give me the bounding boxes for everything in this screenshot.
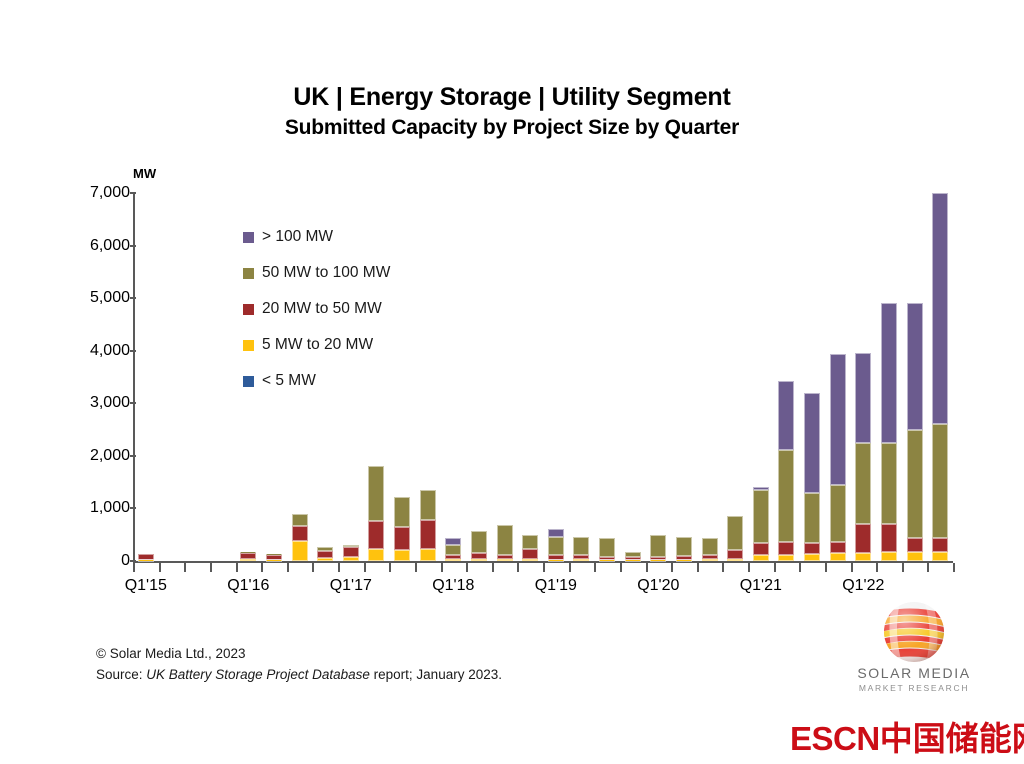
bar-Q2'21 (778, 381, 794, 561)
bar-segment (676, 537, 692, 556)
x-tick-mark (338, 563, 340, 572)
bar-segment (804, 554, 820, 561)
y-tick-label: 6,000 (68, 237, 130, 255)
logo-name: SOLAR MEDIA (849, 665, 979, 681)
footer-block: © Solar Media Ltd., 2023 Source: UK Batt… (96, 643, 502, 685)
x-tick-mark (210, 563, 212, 572)
bar-segment (907, 538, 923, 552)
x-axis-label: Q1'20 (623, 577, 693, 595)
bar-segment (548, 560, 564, 561)
bar-Q3'22 (907, 303, 923, 561)
x-axis-label: Q1'22 (828, 577, 898, 595)
y-tick-label: 0 (68, 552, 130, 570)
x-tick-mark (671, 563, 673, 572)
bar-segment (778, 555, 794, 561)
y-tick-label: 3,000 (68, 394, 130, 412)
bar-Q2'17 (368, 466, 384, 561)
bar-Q1'15 (138, 554, 154, 561)
bar-Q1'19 (548, 529, 564, 561)
y-tick-label: 4,000 (68, 342, 130, 360)
legend-item[interactable]: 20 MW to 50 MW (243, 291, 473, 327)
bar-segment (625, 560, 641, 561)
bar-Q1'17 (343, 545, 359, 561)
bar-segment (753, 490, 769, 543)
watermark-latin: ESCN (790, 720, 880, 757)
bar-segment (778, 381, 794, 450)
x-axis-label: Q1'17 (316, 577, 386, 595)
y-tick-label: 5,000 (68, 289, 130, 307)
bar-segment (343, 557, 359, 561)
bar-segment (471, 559, 487, 561)
x-axis-label: Q1'15 (111, 577, 181, 595)
bar-Q4'22 (932, 193, 948, 561)
bar-segment (702, 538, 718, 555)
x-tick-mark (133, 563, 135, 572)
bar-segment (753, 543, 769, 556)
bar-Q4'16 (317, 547, 333, 561)
bar-segment (420, 490, 436, 520)
legend-swatch-icon (243, 304, 254, 315)
x-tick-mark (927, 563, 929, 572)
bar-segment (420, 549, 436, 561)
bar-segment (932, 193, 948, 424)
bar-Q2'19 (573, 537, 589, 561)
legend-item[interactable]: < 5 MW (243, 363, 473, 399)
bar-segment (702, 559, 718, 561)
x-tick-mark (543, 563, 545, 572)
y-axis-tick-labels: 01,0002,0003,0004,0005,0006,0007,000 (60, 193, 130, 561)
x-tick-mark (184, 563, 186, 572)
source-suffix: report; January 2023. (370, 667, 502, 682)
x-tick-mark (466, 563, 468, 572)
x-tick-mark (569, 563, 571, 572)
bar-segment (881, 552, 897, 561)
bar-segment (368, 466, 384, 521)
bar-Q2'20 (676, 537, 692, 561)
x-tick-mark (620, 563, 622, 572)
watermark-chinese: 中国储能网 (880, 720, 1024, 757)
bar-Q4'17 (420, 490, 436, 561)
bar-segment (881, 524, 897, 552)
bar-segment (727, 550, 743, 559)
legend-label: 50 MW to 100 MW (262, 264, 390, 282)
bar-segment (368, 549, 384, 561)
x-tick-mark (902, 563, 904, 572)
bar-Q1'18 (445, 538, 461, 561)
x-tick-mark (364, 563, 366, 572)
bar-segment (240, 553, 256, 560)
y-axis-line (133, 193, 135, 561)
x-tick-mark (697, 563, 699, 572)
bar-segment (855, 524, 871, 552)
bar-Q3'17 (394, 497, 410, 561)
bar-Q3'18 (497, 525, 513, 561)
x-tick-mark (953, 563, 955, 572)
bar-segment (522, 559, 538, 561)
bar-Q3'19 (599, 538, 615, 561)
x-axis-label: Q1'21 (726, 577, 796, 595)
bar-segment (317, 551, 333, 558)
bar-segment (932, 424, 948, 538)
legend-label: > 100 MW (262, 228, 333, 246)
legend-label: 20 MW to 50 MW (262, 300, 382, 318)
x-tick-mark (646, 563, 648, 572)
bar-segment (497, 559, 513, 561)
x-tick-mark (261, 563, 263, 572)
bar-segment (907, 303, 923, 430)
bar-segment (292, 541, 308, 562)
bar-segment (907, 552, 923, 561)
bar-segment (830, 542, 846, 554)
bar-Q1'22 (855, 353, 871, 561)
bar-Q4'18 (522, 535, 538, 561)
bar-Q3'20 (702, 538, 718, 561)
x-tick-mark (492, 563, 494, 572)
bar-Q3'21 (804, 393, 820, 561)
bar-segment (778, 450, 794, 542)
bar-segment (394, 497, 410, 527)
legend-label: 5 MW to 20 MW (262, 336, 373, 354)
legend-swatch-icon (243, 268, 254, 279)
bar-segment (907, 430, 923, 538)
x-tick-mark (389, 563, 391, 572)
bar-segment (855, 443, 871, 524)
legend-swatch-icon (243, 232, 254, 243)
bar-segment (599, 538, 615, 557)
bar-segment (343, 547, 359, 557)
y-tick-label: 1,000 (68, 499, 130, 517)
bar-Q3'16 (292, 514, 308, 561)
legend-label: < 5 MW (262, 372, 316, 390)
bar-segment (855, 553, 871, 561)
legend-swatch-icon (243, 376, 254, 387)
x-axis-label: Q1'16 (213, 577, 283, 595)
bar-segment (394, 550, 410, 561)
chart-page: UK | Energy Storage | Utility Segment Su… (0, 0, 1024, 764)
bar-segment (830, 354, 846, 484)
x-tick-mark (799, 563, 801, 572)
bar-segment (138, 560, 154, 561)
bar-Q4'20 (727, 516, 743, 561)
bar-Q1'20 (650, 535, 666, 561)
x-tick-mark (774, 563, 776, 572)
x-tick-mark (825, 563, 827, 572)
bar-segment (292, 526, 308, 540)
bar-segment (932, 538, 948, 552)
bar-segment (497, 525, 513, 554)
bar-segment (778, 542, 794, 555)
x-tick-mark (594, 563, 596, 572)
bar-Q4'19 (625, 552, 641, 561)
bar-Q4'21 (830, 354, 846, 561)
bar-segment (445, 538, 461, 545)
x-tick-mark (441, 563, 443, 572)
globe-icon (882, 600, 946, 664)
logo-subtitle: MARKET RESEARCH (849, 683, 979, 693)
source-title: UK Battery Storage Project Database (146, 667, 370, 682)
bar-segment (881, 443, 897, 524)
x-tick-mark (236, 563, 238, 572)
bar-segment (548, 537, 564, 554)
x-tick-mark (517, 563, 519, 572)
y-axis-unit-label: MW (133, 166, 156, 181)
copyright-line: © Solar Media Ltd., 2023 (96, 643, 502, 664)
bar-segment (753, 555, 769, 561)
bar-segment (292, 514, 308, 527)
x-tick-mark (287, 563, 289, 572)
bar-segment (317, 558, 333, 561)
bar-segment (830, 485, 846, 542)
legend-swatch-icon (243, 340, 254, 351)
chart-title-block: UK | Energy Storage | Utility Segment Su… (0, 82, 1024, 141)
bar-segment (804, 543, 820, 554)
bar-Q1'21 (753, 487, 769, 561)
x-axis-label: Q1'18 (418, 577, 488, 595)
bar-segment (368, 521, 384, 549)
bar-Q1'16 (240, 552, 256, 561)
bar-segment (573, 559, 589, 561)
escn-watermark: ESCN中国储能网 (790, 712, 1024, 760)
y-tick-label: 7,000 (68, 184, 130, 202)
legend-item[interactable]: > 100 MW (243, 219, 473, 255)
bar-Q2'16 (266, 554, 282, 561)
bar-segment (804, 393, 820, 493)
chart-title-line1: UK | Energy Storage | Utility Segment (0, 82, 1024, 112)
x-tick-mark (748, 563, 750, 572)
bar-segment (420, 520, 436, 549)
bar-Q2'22 (881, 303, 897, 561)
bar-segment (830, 553, 846, 561)
bar-segment (804, 493, 820, 542)
bar-segment (727, 516, 743, 550)
bar-segment (650, 535, 666, 557)
solar-media-logo: SOLAR MEDIA MARKET RESEARCH (849, 600, 979, 692)
bar-segment (855, 353, 871, 442)
bar-segment (599, 560, 615, 561)
bar-segment (240, 559, 256, 561)
bar-segment (394, 527, 410, 550)
bar-segment (522, 549, 538, 559)
legend-item[interactable]: 50 MW to 100 MW (243, 255, 473, 291)
x-tick-mark (415, 563, 417, 572)
bar-segment (881, 303, 897, 443)
x-axis-label: Q1'19 (521, 577, 591, 595)
bar-segment (676, 560, 692, 561)
x-tick-mark (851, 563, 853, 572)
x-tick-mark (312, 563, 314, 572)
bar-segment (445, 559, 461, 561)
bar-segment (573, 537, 589, 555)
chart-title-line2: Submitted Capacity by Project Size by Qu… (0, 114, 1024, 141)
bar-segment (727, 559, 743, 561)
source-prefix: Source: (96, 667, 146, 682)
x-tick-mark (159, 563, 161, 572)
source-line: Source: UK Battery Storage Project Datab… (96, 664, 502, 685)
bar-segment (522, 535, 538, 550)
bar-segment (932, 552, 948, 561)
x-tick-mark (876, 563, 878, 572)
bar-segment (445, 545, 461, 555)
x-tick-mark (722, 563, 724, 572)
bar-segment (650, 560, 666, 561)
bar-segment (266, 560, 282, 561)
bar-Q2'18 (471, 531, 487, 561)
bar-segment (471, 531, 487, 554)
legend-item[interactable]: 5 MW to 20 MW (243, 327, 473, 363)
bar-segment (548, 529, 564, 537)
chart-legend: > 100 MW50 MW to 100 MW20 MW to 50 MW5 M… (243, 219, 473, 399)
y-tick-label: 2,000 (68, 447, 130, 465)
